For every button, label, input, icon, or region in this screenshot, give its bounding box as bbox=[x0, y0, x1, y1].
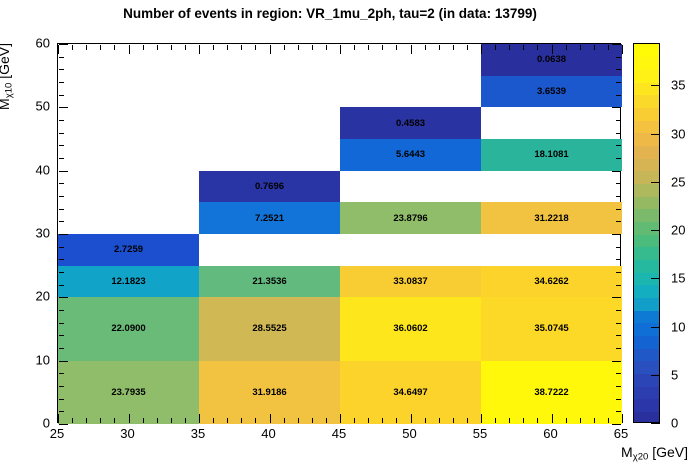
x-major-tick bbox=[622, 414, 623, 423]
x-minor-tick bbox=[114, 418, 115, 423]
colorbar-segment bbox=[634, 209, 659, 222]
y-minor-tick-right bbox=[616, 285, 621, 286]
x-minor-tick bbox=[523, 418, 524, 423]
y-minor-tick-right bbox=[616, 95, 621, 96]
heatmap-cell: 2.7259 bbox=[58, 234, 199, 266]
x-major-tick-top bbox=[129, 45, 130, 54]
colorbar-tick-label: 25 bbox=[671, 174, 685, 189]
heatmap-cell-value: 38.7222 bbox=[534, 387, 568, 398]
x-minor-tick bbox=[312, 418, 313, 423]
y-minor-tick bbox=[59, 247, 64, 248]
colorbar-segment bbox=[634, 95, 659, 108]
y-minor-tick bbox=[59, 69, 64, 70]
y-minor-tick-right bbox=[616, 411, 621, 412]
x-minor-tick-top bbox=[368, 45, 369, 50]
x-minor-tick bbox=[227, 418, 228, 423]
x-minor-tick bbox=[298, 418, 299, 423]
heatmap-cell-value: 0.7696 bbox=[255, 181, 284, 192]
colorbar-segment bbox=[634, 361, 659, 374]
y-minor-tick-right bbox=[616, 120, 621, 121]
x-major-tick-top bbox=[411, 45, 412, 54]
x-minor-tick-top bbox=[157, 45, 158, 50]
x-major-tick bbox=[129, 414, 130, 423]
heatmap-cell-value: 35.0745 bbox=[534, 323, 568, 334]
colorbar-tick-label: 5 bbox=[671, 367, 678, 382]
heatmap-cell-value: 3.6539 bbox=[537, 86, 566, 97]
colorbar-segment bbox=[634, 399, 659, 412]
x-minor-tick-top bbox=[354, 45, 355, 50]
heatmap-cell-value: 28.5525 bbox=[252, 323, 286, 334]
x-minor-tick-top bbox=[523, 45, 524, 50]
colorbar-segment bbox=[634, 120, 659, 133]
x-minor-tick bbox=[72, 418, 73, 423]
y-tick-label: 30 bbox=[22, 226, 50, 241]
x-major-tick bbox=[270, 414, 271, 423]
colorbar-tick bbox=[651, 375, 660, 376]
x-minor-tick bbox=[608, 418, 609, 423]
x-minor-tick bbox=[537, 418, 538, 423]
x-minor-tick-top bbox=[143, 45, 144, 50]
x-minor-tick bbox=[396, 418, 397, 423]
x-minor-tick bbox=[284, 418, 285, 423]
colorbar-tick bbox=[651, 182, 660, 183]
colorbar-tick-label: 10 bbox=[671, 319, 685, 334]
heatmap-cell: 18.1081 bbox=[481, 139, 622, 171]
y-tick-label: 50 bbox=[22, 99, 50, 114]
x-minor-tick bbox=[467, 418, 468, 423]
x-minor-tick-top bbox=[100, 45, 101, 50]
y-tick-label: 0 bbox=[22, 416, 50, 431]
y-major-tick bbox=[59, 234, 68, 235]
x-major-tick bbox=[411, 414, 412, 423]
colorbar-segment bbox=[634, 158, 659, 171]
x-minor-tick bbox=[143, 418, 144, 423]
y-minor-tick-right bbox=[616, 82, 621, 83]
y-tick-label: 20 bbox=[22, 289, 50, 304]
x-tick-label: 65 bbox=[614, 426, 628, 441]
x-axis-title: Mχ20 [GeV] bbox=[621, 444, 688, 463]
x-tick-label: 40 bbox=[261, 426, 275, 441]
x-minor-tick-top bbox=[425, 45, 426, 50]
x-minor-tick-top bbox=[453, 45, 454, 50]
heatmap-cell-value: 22.0900 bbox=[111, 323, 145, 334]
y-major-tick-right bbox=[612, 44, 621, 45]
x-minor-tick bbox=[566, 418, 567, 423]
heatmap-cell: 28.5525 bbox=[199, 297, 340, 360]
colorbar-segment bbox=[634, 259, 659, 272]
heatmap-cell-value: 0.0638 bbox=[537, 54, 566, 65]
heatmap-cell: 33.0837 bbox=[340, 266, 481, 298]
x-major-tick-top bbox=[481, 45, 482, 54]
x-minor-tick-top bbox=[185, 45, 186, 50]
x-major-tick-top bbox=[270, 45, 271, 54]
y-tick-label: 10 bbox=[22, 352, 50, 367]
x-tick-label: 55 bbox=[473, 426, 487, 441]
colorbar-segment bbox=[634, 335, 659, 348]
y-minor-tick bbox=[59, 386, 64, 387]
x-minor-tick-top bbox=[396, 45, 397, 50]
y-minor-tick bbox=[59, 145, 64, 146]
y-major-tick-right bbox=[612, 361, 621, 362]
x-minor-tick-top bbox=[439, 45, 440, 50]
heatmap-cell: 35.0745 bbox=[481, 297, 622, 360]
x-minor-tick bbox=[255, 418, 256, 423]
y-minor-tick-right bbox=[616, 310, 621, 311]
x-minor-tick bbox=[213, 418, 214, 423]
heatmap-cell: 12.1823 bbox=[58, 266, 199, 298]
x-major-tick-top bbox=[199, 45, 200, 54]
y-minor-tick bbox=[59, 57, 64, 58]
plot-title: Number of events in region: VR_1mu_2ph, … bbox=[0, 6, 660, 21]
y-major-tick-right bbox=[612, 171, 621, 172]
x-minor-tick-top bbox=[114, 45, 115, 50]
y-minor-tick bbox=[59, 183, 64, 184]
y-minor-tick-right bbox=[616, 69, 621, 70]
x-minor-tick bbox=[185, 418, 186, 423]
x-major-tick bbox=[58, 414, 59, 423]
x-major-tick bbox=[199, 414, 200, 423]
y-minor-tick-right bbox=[616, 373, 621, 374]
y-minor-tick-right bbox=[616, 183, 621, 184]
x-minor-tick bbox=[425, 418, 426, 423]
x-minor-tick bbox=[509, 418, 510, 423]
y-minor-tick bbox=[59, 272, 64, 273]
colorbar-segment bbox=[634, 57, 659, 70]
colorbar-axis: 05101520253035 bbox=[660, 43, 696, 423]
x-minor-tick-top bbox=[86, 45, 87, 50]
y-major-tick bbox=[59, 361, 68, 362]
colorbar-tick-label: 15 bbox=[671, 271, 685, 286]
x-minor-tick-top bbox=[467, 45, 468, 50]
y-minor-tick-right bbox=[616, 399, 621, 400]
y-minor-tick bbox=[59, 411, 64, 412]
x-tick-label: 35 bbox=[191, 426, 205, 441]
x-minor-tick-top bbox=[298, 45, 299, 50]
y-major-tick-right bbox=[612, 107, 621, 108]
colorbar-segment bbox=[634, 183, 659, 196]
heatmap-cell-value: 33.0837 bbox=[393, 276, 427, 287]
heatmap-cell-value: 21.3536 bbox=[252, 276, 286, 287]
x-minor-tick-top bbox=[227, 45, 228, 50]
y-minor-tick bbox=[59, 335, 64, 336]
x-minor-tick-top bbox=[255, 45, 256, 50]
plot-canvas: Number of events in region: VR_1mu_2ph, … bbox=[0, 0, 696, 472]
colorbar-tick-label: 35 bbox=[671, 78, 685, 93]
y-minor-tick-right bbox=[616, 386, 621, 387]
colorbar-tick bbox=[651, 278, 660, 279]
y-minor-tick bbox=[59, 82, 64, 83]
y-major-tick-right bbox=[612, 297, 621, 298]
y-minor-tick bbox=[59, 323, 64, 324]
x-minor-tick bbox=[382, 418, 383, 423]
x-minor-tick-top bbox=[509, 45, 510, 50]
x-minor-tick-top bbox=[72, 45, 73, 50]
y-minor-tick-right bbox=[616, 196, 621, 197]
heatmap-cell-value: 0.4583 bbox=[396, 118, 425, 129]
y-minor-tick bbox=[59, 95, 64, 96]
x-minor-tick-top bbox=[382, 45, 383, 50]
x-minor-tick-top bbox=[608, 45, 609, 50]
heatmap-cell-value: 23.7935 bbox=[111, 387, 145, 398]
colorbar-tick-label: 30 bbox=[671, 126, 685, 141]
x-minor-tick bbox=[368, 418, 369, 423]
y-minor-tick bbox=[59, 259, 64, 260]
x-major-tick-top bbox=[552, 45, 553, 54]
y-major-tick bbox=[59, 297, 68, 298]
colorbar-segment bbox=[634, 348, 659, 361]
heatmap-cell: 34.6262 bbox=[481, 266, 622, 298]
heatmap-cell-value: 2.7259 bbox=[114, 244, 143, 255]
heatmap-cell: 5.6443 bbox=[340, 139, 481, 171]
y-minor-tick-right bbox=[616, 209, 621, 210]
x-minor-tick bbox=[171, 418, 172, 423]
y-axis-title: Mχ10 [GeV] bbox=[0, 43, 15, 112]
x-minor-tick-top bbox=[284, 45, 285, 50]
colorbar-segment bbox=[634, 411, 659, 423]
colorbar-tick bbox=[651, 423, 660, 424]
colorbar-segment bbox=[634, 297, 659, 310]
heatmap-cells: 23.793531.918634.649738.722222.090028.55… bbox=[58, 44, 620, 422]
colorbar-segment bbox=[634, 69, 659, 82]
colorbar-segment bbox=[634, 247, 659, 260]
x-minor-tick bbox=[100, 418, 101, 423]
y-major-tick bbox=[59, 171, 68, 172]
heatmap-cell-value: 31.2218 bbox=[534, 213, 568, 224]
x-minor-tick bbox=[354, 418, 355, 423]
x-minor-tick-top bbox=[594, 45, 595, 50]
heatmap-cell-value: 34.6262 bbox=[534, 276, 568, 287]
y-tick-label: 40 bbox=[22, 162, 50, 177]
heatmap-cell: 21.3536 bbox=[199, 266, 340, 298]
x-minor-tick bbox=[241, 418, 242, 423]
x-minor-tick bbox=[439, 418, 440, 423]
x-minor-tick-top bbox=[171, 45, 172, 50]
y-minor-tick bbox=[59, 133, 64, 134]
x-minor-tick-top bbox=[580, 45, 581, 50]
x-minor-tick-top bbox=[213, 45, 214, 50]
heatmap-cell: 22.0900 bbox=[58, 297, 199, 360]
y-major-tick-right bbox=[612, 424, 621, 425]
y-tick-label: 60 bbox=[22, 36, 50, 51]
colorbar-segment bbox=[634, 107, 659, 120]
heatmap-cell: 0.7696 bbox=[199, 171, 340, 203]
y-major-tick bbox=[59, 44, 68, 45]
y-minor-tick-right bbox=[616, 272, 621, 273]
colorbar-tick bbox=[651, 230, 660, 231]
colorbar-tick bbox=[651, 134, 660, 135]
colorbar-segment bbox=[634, 145, 659, 158]
colorbar-segment bbox=[634, 234, 659, 247]
y-minor-tick bbox=[59, 310, 64, 311]
colorbar-segment bbox=[634, 386, 659, 399]
y-minor-tick bbox=[59, 348, 64, 349]
heatmap-cell-value: 23.8796 bbox=[393, 213, 427, 224]
y-major-tick bbox=[59, 107, 68, 108]
colorbar-segment bbox=[634, 44, 659, 57]
x-minor-tick-top bbox=[312, 45, 313, 50]
y-minor-tick-right bbox=[616, 247, 621, 248]
x-major-tick-top bbox=[58, 45, 59, 54]
y-minor-tick bbox=[59, 209, 64, 210]
colorbar-segment bbox=[634, 221, 659, 234]
colorbar-segment bbox=[634, 310, 659, 323]
heatmap-cell-value: 5.6443 bbox=[396, 149, 425, 160]
x-major-tick-top bbox=[622, 45, 623, 54]
heatmap-cell: 3.6539 bbox=[481, 76, 622, 108]
heatmap-cell: 31.2218 bbox=[481, 202, 622, 234]
x-minor-tick-top bbox=[241, 45, 242, 50]
heatmap-cell: 0.4583 bbox=[340, 107, 481, 139]
x-minor-tick bbox=[86, 418, 87, 423]
heatmap-cell: 23.8796 bbox=[340, 202, 481, 234]
x-tick-label: 30 bbox=[120, 426, 134, 441]
y-minor-tick bbox=[59, 221, 64, 222]
x-minor-tick bbox=[594, 418, 595, 423]
x-tick-label: 45 bbox=[332, 426, 346, 441]
heatmap-cell: 7.2521 bbox=[199, 202, 340, 234]
colorbar-segment bbox=[634, 196, 659, 209]
colorbar-segment bbox=[634, 82, 659, 95]
x-major-tick bbox=[552, 414, 553, 423]
x-major-tick bbox=[340, 414, 341, 423]
heatmap-cell-value: 31.9186 bbox=[252, 387, 286, 398]
y-minor-tick-right bbox=[616, 348, 621, 349]
heatmap-cell-value: 36.0602 bbox=[393, 323, 427, 334]
y-major-tick bbox=[59, 424, 68, 425]
x-major-tick bbox=[481, 414, 482, 423]
x-minor-tick-top bbox=[495, 45, 496, 50]
y-minor-tick-right bbox=[616, 158, 621, 159]
x-minor-tick bbox=[326, 418, 327, 423]
x-major-tick-top bbox=[340, 45, 341, 54]
x-minor-tick-top bbox=[566, 45, 567, 50]
y-minor-tick-right bbox=[616, 323, 621, 324]
y-minor-tick-right bbox=[616, 259, 621, 260]
y-minor-tick bbox=[59, 285, 64, 286]
heatmap-cell-value: 7.2521 bbox=[255, 213, 284, 224]
y-major-tick-right bbox=[612, 234, 621, 235]
colorbar bbox=[633, 43, 660, 423]
x-minor-tick bbox=[157, 418, 158, 423]
heatmap-cell-value: 34.6497 bbox=[393, 387, 427, 398]
x-tick-label: 50 bbox=[402, 426, 416, 441]
y-minor-tick-right bbox=[616, 335, 621, 336]
y-minor-tick bbox=[59, 196, 64, 197]
heatmap-cell-value: 18.1081 bbox=[534, 149, 568, 160]
heatmap-cell: 36.0602 bbox=[340, 297, 481, 360]
x-tick-label: 25 bbox=[50, 426, 64, 441]
y-minor-tick bbox=[59, 373, 64, 374]
colorbar-segment bbox=[634, 285, 659, 298]
y-minor-tick bbox=[59, 399, 64, 400]
x-minor-tick bbox=[580, 418, 581, 423]
x-minor-tick-top bbox=[326, 45, 327, 50]
y-minor-tick-right bbox=[616, 221, 621, 222]
y-minor-tick bbox=[59, 158, 64, 159]
colorbar-segment bbox=[634, 323, 659, 336]
heatmap-cell-value: 12.1823 bbox=[111, 276, 145, 287]
heatmap-plot-frame: 23.793531.918634.649738.722222.090028.55… bbox=[57, 43, 621, 423]
colorbar-tick-label: 0 bbox=[671, 416, 678, 431]
colorbar-tick-label: 20 bbox=[671, 223, 685, 238]
y-minor-tick-right bbox=[616, 57, 621, 58]
colorbar-tick bbox=[651, 85, 660, 86]
y-minor-tick-right bbox=[616, 145, 621, 146]
x-minor-tick bbox=[453, 418, 454, 423]
x-minor-tick-top bbox=[537, 45, 538, 50]
y-minor-tick-right bbox=[616, 133, 621, 134]
x-minor-tick bbox=[495, 418, 496, 423]
y-minor-tick bbox=[59, 120, 64, 121]
colorbar-tick bbox=[651, 327, 660, 328]
x-tick-label: 60 bbox=[543, 426, 557, 441]
